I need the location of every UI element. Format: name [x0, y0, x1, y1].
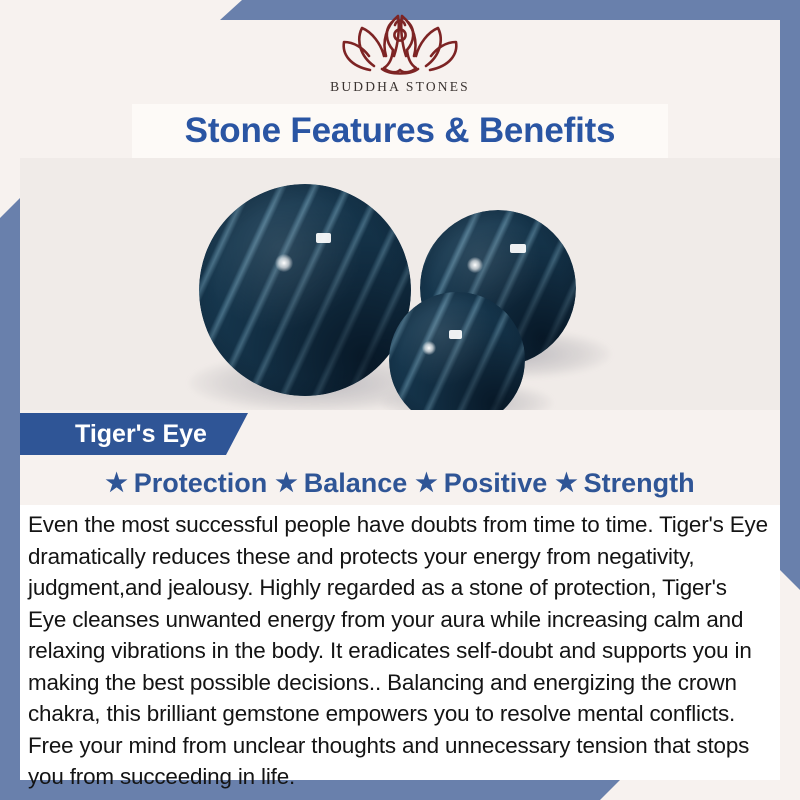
- stone-name-tag: Tiger's Eye: [20, 413, 248, 455]
- page-title: Stone Features & Benefits: [185, 111, 616, 151]
- lotus-meditation-figure-icon: [336, 8, 464, 78]
- benefit-label: Positive: [444, 468, 548, 499]
- large-blue-tigers-eye-sphere: [199, 184, 411, 396]
- description-panel: Even the most successful people have dou…: [20, 505, 780, 780]
- small-blue-tigers-eye-sphere: [389, 292, 525, 410]
- benefit-positive: ★ Positive: [407, 468, 547, 499]
- benefit-balance: ★ Balance: [267, 468, 407, 499]
- benefit-label: Balance: [304, 468, 408, 499]
- stone-name: Tiger's Eye: [20, 420, 207, 449]
- star-icon: ★: [555, 471, 577, 496]
- title-banner: Stone Features & Benefits: [132, 104, 668, 158]
- star-icon: ★: [275, 471, 297, 496]
- benefit-protection: ★ Protection: [105, 468, 267, 499]
- benefit-label: Strength: [584, 468, 695, 499]
- brand-name: BUDDHA STONES: [330, 79, 470, 95]
- description-text: Even the most successful people have dou…: [28, 509, 770, 793]
- frame-accent-left: [0, 198, 20, 800]
- benefits-row: ★ Protection ★ Balance ★ Positive ★ Stre…: [20, 462, 780, 504]
- brand-logo: BUDDHA STONES: [0, 8, 800, 112]
- star-icon: ★: [105, 471, 127, 496]
- star-icon: ★: [415, 471, 437, 496]
- stone-features-poster: BUDDHA STONES Stone Features & Benefits: [0, 0, 800, 800]
- stone-hero-image: [20, 158, 780, 410]
- benefit-label: Protection: [134, 468, 268, 499]
- benefit-strength: ★ Strength: [547, 468, 694, 499]
